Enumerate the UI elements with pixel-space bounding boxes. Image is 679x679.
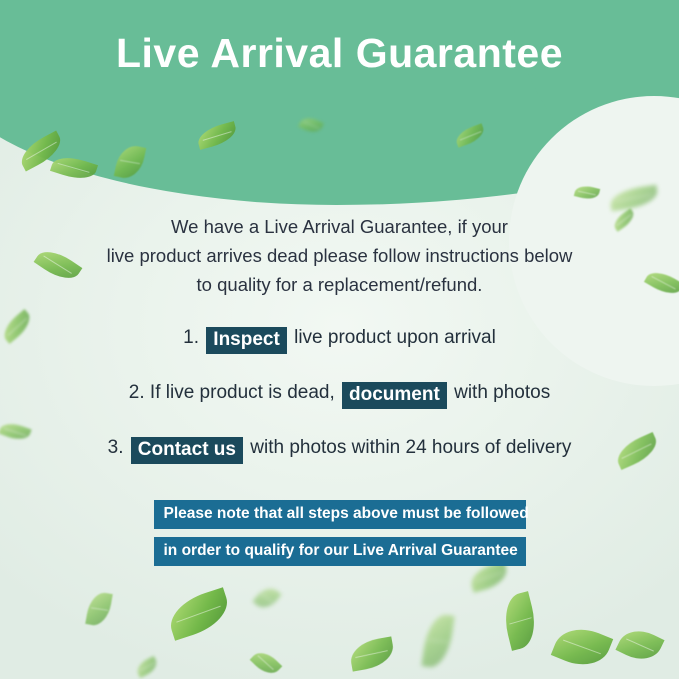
step-3-highlight: Contact us	[131, 437, 243, 464]
page-title: Live Arrival Guarantee	[0, 30, 679, 77]
step-1-text-after: live product upon arrival	[294, 327, 496, 348]
note-line-2: in order to qualify for our Live Arrival…	[154, 537, 526, 566]
intro-line-1: We have a Live Arrival Guarantee, if you…	[70, 212, 609, 241]
step-2-text-before: If live product is dead,	[150, 382, 335, 403]
note-banner: Please note that all steps above must be…	[0, 500, 679, 574]
step-2-highlight: document	[342, 382, 447, 409]
step-3-number: 3.	[108, 437, 124, 458]
intro-line-3: to quality for a replacement/refund.	[70, 270, 609, 299]
intro-paragraph: We have a Live Arrival Guarantee, if you…	[70, 212, 609, 299]
intro-line-2: live product arrives dead please follow …	[70, 241, 609, 270]
live-arrival-guarantee-poster: Live Arrival Guarantee We have a Live Ar…	[0, 0, 679, 679]
step-2-text-after: with photos	[454, 382, 550, 403]
step-2-number: 2.	[129, 382, 145, 403]
note-line-1: Please note that all steps above must be…	[154, 500, 526, 529]
step-3-text-after: with photos within 24 hours of delivery	[250, 437, 571, 458]
step-2: 2. If live product is dead, document wit…	[0, 379, 679, 409]
step-3: 3. Contact us with photos within 24 hour…	[0, 434, 679, 464]
step-1-highlight: Inspect	[206, 327, 287, 354]
step-1-number: 1.	[183, 327, 199, 348]
step-1: 1. Inspect live product upon arrival	[0, 324, 679, 354]
